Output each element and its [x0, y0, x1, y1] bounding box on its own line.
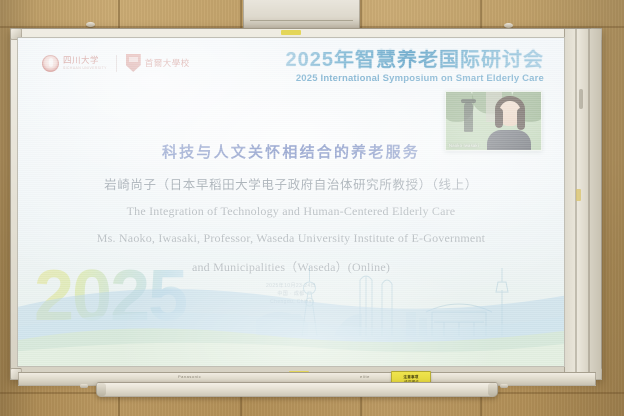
- ceiling-vent-panel: [243, 0, 360, 31]
- tray-end-cap: [488, 383, 497, 396]
- vent-slat: [250, 20, 353, 21]
- safety-warning-line1: 注意事项: [403, 375, 418, 379]
- whiteboard: 四川大学 SICHUAN UNIVERSITY 首爾大學校 2025年智慧养: [10, 28, 602, 380]
- whiteboard-side-rail: [564, 29, 601, 379]
- rail-groove: [575, 29, 577, 379]
- rail-marking: [579, 89, 583, 109]
- tray-brand-label: Panasonic: [178, 374, 201, 379]
- frame-sticker-top: [281, 30, 301, 35]
- marker-tray[interactable]: [96, 382, 498, 397]
- projection-surface: 四川大学 SICHUAN UNIVERSITY 首爾大學校 2025年智慧养: [17, 37, 565, 367]
- presentation-slide: 四川大学 SICHUAN UNIVERSITY 首爾大學校 2025年智慧养: [18, 38, 564, 366]
- projection-scanlines: [18, 38, 564, 366]
- tray-hook: [500, 384, 508, 388]
- rail-sticker: [576, 189, 581, 201]
- tray-brand-label-right: elite: [360, 374, 370, 379]
- classroom-scene: 四川大学 SICHUAN UNIVERSITY 首爾大學校 2025年智慧养: [0, 0, 624, 416]
- tray-end-cap: [97, 383, 106, 396]
- tray-hook: [80, 384, 88, 388]
- rail-groove: [588, 29, 590, 379]
- wall-knob: [86, 22, 95, 27]
